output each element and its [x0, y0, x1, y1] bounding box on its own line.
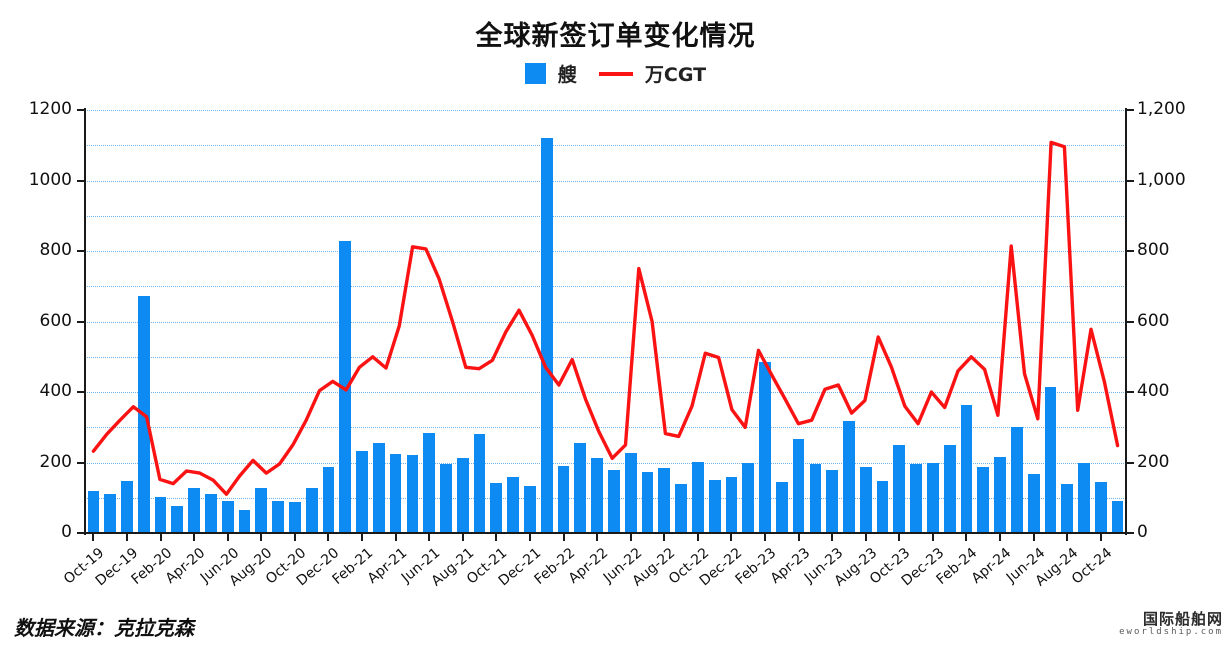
y-axis-tick: [1126, 321, 1134, 323]
y-axis-tick: [77, 180, 85, 182]
y-axis-label: 200: [1137, 452, 1169, 472]
x-axis-tick: [395, 533, 397, 541]
y-axis-label: 800: [1137, 240, 1169, 260]
x-axis-tick: [1033, 533, 1035, 541]
y-axis-label: 800: [40, 240, 72, 260]
legend-bar-swatch-icon: [525, 63, 546, 84]
y-axis-label: 400: [1137, 381, 1169, 401]
x-axis-tick: [596, 533, 598, 541]
y-axis-label: 200: [40, 452, 72, 472]
y-axis-tick: [1126, 250, 1134, 252]
y-axis-label: 600: [40, 311, 72, 331]
y-axis-tick: [77, 532, 85, 534]
y-axis-label: 400: [40, 381, 72, 401]
x-axis-tick: [999, 533, 1001, 541]
y-axis-tick: [77, 391, 85, 393]
legend-bar-label: 艘: [558, 60, 577, 87]
y-axis-label: 1200: [29, 99, 72, 119]
y-axis-tick: [1126, 532, 1134, 534]
x-axis-labels: Oct-19Dec-19Feb-20Apr-20Jun-20Aug-20Oct-…: [0, 541, 1231, 601]
x-axis-tick: [193, 533, 195, 541]
y-axis-tick: [1126, 109, 1134, 111]
legend-line-swatch-icon: [599, 72, 633, 76]
source-note: 数据来源：克拉克森: [14, 612, 194, 641]
watermark-en: eworldship.com: [1119, 628, 1223, 637]
x-axis-tick: [831, 533, 833, 541]
x-axis-tick: [327, 533, 329, 541]
x-axis-tick: [294, 533, 296, 541]
y-axis-label: 0: [61, 522, 72, 542]
y-axis-label: 0: [1137, 522, 1148, 542]
x-axis-tick: [630, 533, 632, 541]
x-axis-tick: [361, 533, 363, 541]
x-axis-tick: [563, 533, 565, 541]
x-axis-tick: [260, 533, 262, 541]
x-axis-tick: [428, 533, 430, 541]
line-path: [93, 142, 1117, 494]
x-axis-tick: [495, 533, 497, 541]
y-axis-label: 600: [1137, 311, 1169, 331]
x-axis-tick: [92, 533, 94, 541]
x-axis-ticks: [85, 533, 1126, 541]
y-axis-tick: [77, 250, 85, 252]
x-axis-tick: [462, 533, 464, 541]
x-axis-tick: [1066, 533, 1068, 541]
x-axis-tick: [730, 533, 732, 541]
legend-item-bar[interactable]: 艘: [525, 60, 577, 87]
y-axis-tick: [77, 109, 85, 111]
x-axis-tick: [965, 533, 967, 541]
y-axis-label: 1,200: [1137, 99, 1186, 119]
x-axis-tick: [529, 533, 531, 541]
x-axis-tick: [798, 533, 800, 541]
y-axis-tick: [77, 462, 85, 464]
y-axis-tick: [77, 321, 85, 323]
x-axis-tick: [126, 533, 128, 541]
line-series-wan-cgt: [85, 110, 1126, 533]
x-axis-tick: [898, 533, 900, 541]
y-axis-label: 1000: [29, 170, 72, 190]
y-axis-tick: [1126, 180, 1134, 182]
y-axis-tick: [1126, 462, 1134, 464]
x-axis-tick: [697, 533, 699, 541]
x-axis-tick: [1100, 533, 1102, 541]
x-axis-tick: [160, 533, 162, 541]
x-axis-tick: [764, 533, 766, 541]
chart-title: 全球新签订单变化情况: [0, 14, 1231, 53]
x-axis-tick: [227, 533, 229, 541]
chart-page: 全球新签订单变化情况 艘 万CGT 020040060080010001200 …: [0, 0, 1231, 651]
legend-line-label: 万CGT: [645, 60, 706, 87]
watermark: 国际船舶网 eworldship.com: [1119, 612, 1223, 637]
watermark-cn: 国际船舶网: [1119, 612, 1223, 628]
y-axis-label: 1,000: [1137, 170, 1186, 190]
plot-area: [85, 110, 1126, 533]
x-axis-tick: [932, 533, 934, 541]
chart-legend: 艘 万CGT: [0, 60, 1231, 87]
y-axis-tick: [1126, 391, 1134, 393]
legend-item-line[interactable]: 万CGT: [599, 60, 706, 87]
x-axis-tick: [663, 533, 665, 541]
x-axis-tick: [865, 533, 867, 541]
